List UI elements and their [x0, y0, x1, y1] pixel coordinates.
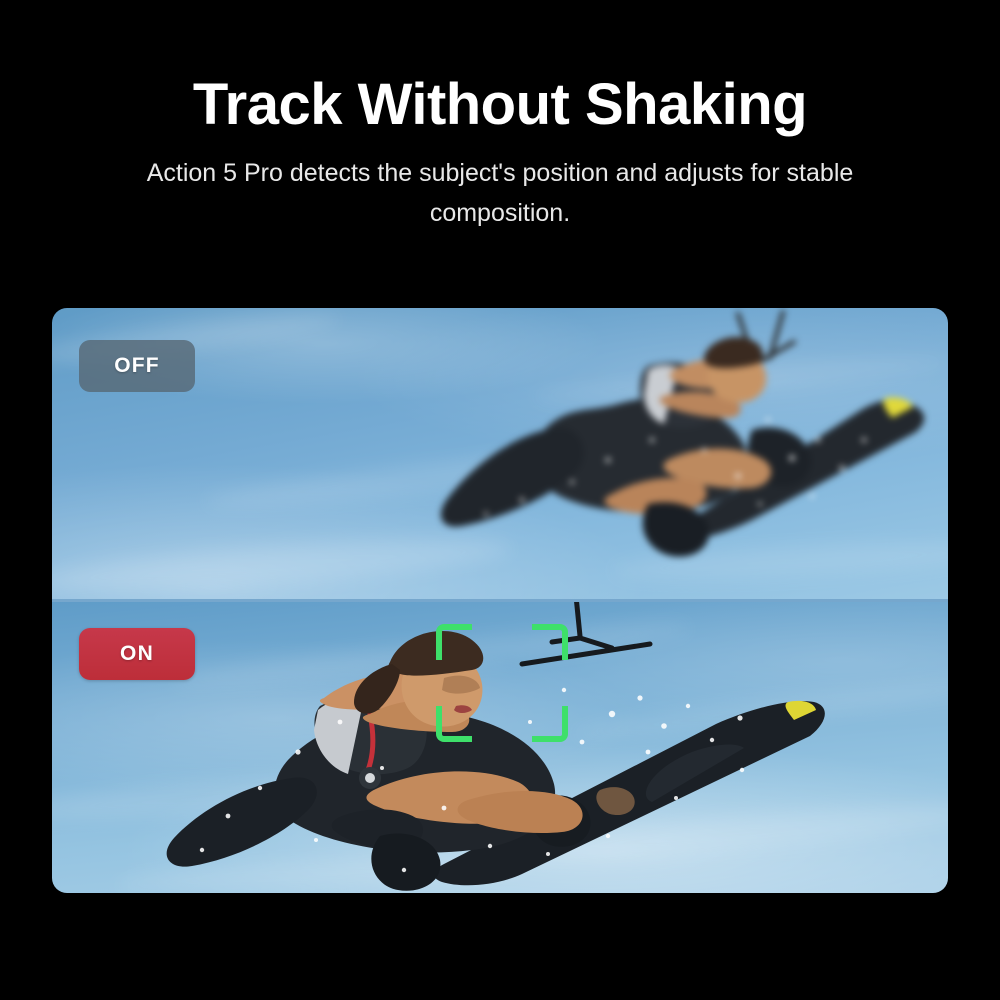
toggle-badge-off[interactable]: OFF [79, 340, 195, 392]
comparison-panel-off: OFF [52, 308, 948, 599]
page-title: Track Without Shaking [0, 74, 1000, 136]
page-subtitle: Action 5 Pro detects the subject's posit… [105, 153, 895, 233]
promo-page: Track Without Shaking Action 5 Pro detec… [0, 0, 1000, 1000]
comparison-panel-on: ON [52, 602, 948, 893]
comparison-card: OFF [52, 308, 948, 893]
toggle-badge-on[interactable]: ON [79, 628, 195, 680]
header: Track Without Shaking Action 5 Pro detec… [0, 0, 1000, 233]
